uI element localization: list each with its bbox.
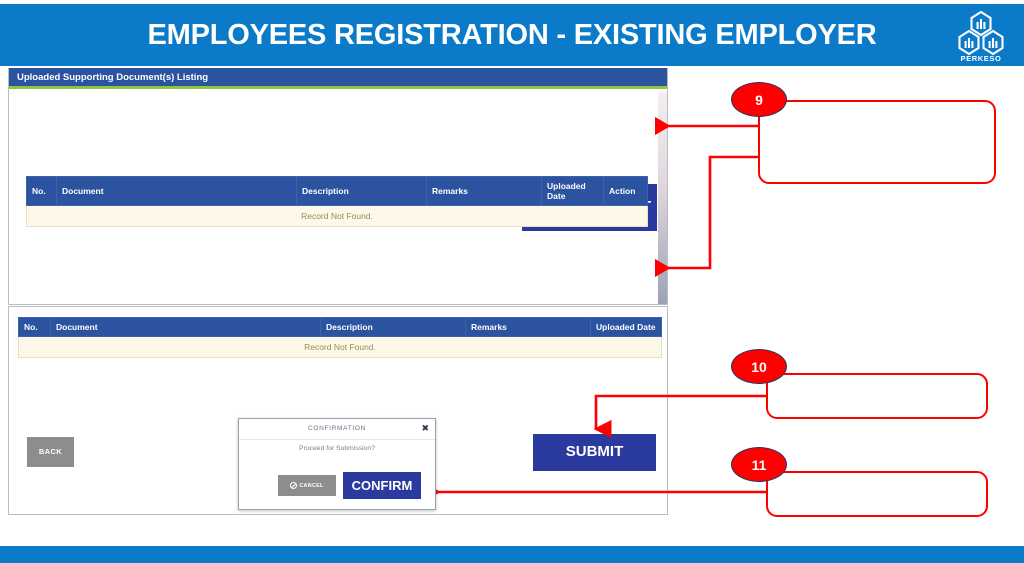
column-header-document: Document: [51, 318, 321, 337]
column-header-remarks: Remarks: [466, 318, 591, 337]
vertical-scrollbar[interactable]: [658, 92, 667, 304]
empty-state-message: Record Not Found.: [19, 337, 662, 358]
submission-documents-table: No. Document Description Remarks Uploade…: [18, 317, 662, 358]
back-button-lower[interactable]: BACK: [27, 437, 74, 467]
table-header-row: No. Document Description Remarks Uploade…: [19, 318, 662, 337]
column-header-description: Description: [297, 177, 427, 206]
column-header-no: No.: [27, 177, 57, 206]
column-header-remarks: Remarks: [427, 177, 542, 206]
column-header-document: Document: [57, 177, 297, 206]
dialog-header: CONFIRMATION ✖: [239, 419, 435, 440]
confirmation-dialog: CONFIRMATION ✖ Proceed for Submission? C…: [238, 418, 436, 510]
empty-state-message: Record Not Found.: [27, 206, 648, 227]
submit-button[interactable]: SUBMIT: [533, 434, 656, 471]
table-row: Record Not Found.: [19, 337, 662, 358]
slide-header: EMPLOYEES REGISTRATION - EXISTING EMPLOY…: [0, 4, 1024, 66]
table-header-row: No. Document Description Remarks Uploade…: [27, 177, 648, 206]
close-icon[interactable]: ✖: [421, 423, 429, 434]
cancel-button-label: CANCEL: [299, 483, 323, 489]
uploaded-documents-table: No. Document Description Remarks Uploade…: [26, 176, 648, 227]
confirm-button[interactable]: CONFIRM: [343, 472, 421, 499]
ban-icon: [290, 482, 297, 489]
callout-badge-10: 10: [731, 349, 787, 384]
column-header-uploaded-date: Uploaded Date: [591, 318, 662, 337]
dialog-title: CONFIRMATION: [239, 419, 435, 439]
connector-save-continue: [655, 157, 758, 268]
callout-box-11: [766, 471, 988, 517]
column-header-description: Description: [321, 318, 466, 337]
panel-title-uploaded-documents: Uploaded Supporting Document(s) Listing: [9, 68, 667, 89]
dialog-message: Proceed for Submission?: [239, 445, 435, 452]
cancel-button[interactable]: CANCEL: [278, 475, 336, 496]
slide-footer-bar: [0, 546, 1024, 563]
callout-badge-9: 9: [731, 82, 787, 117]
column-header-action: Action: [604, 177, 648, 206]
table-row: Record Not Found.: [27, 206, 648, 227]
column-header-uploaded-date: Uploaded Date: [542, 177, 604, 206]
page-title: EMPLOYEES REGISTRATION - EXISTING EMPLOY…: [0, 4, 1024, 66]
upper-screenshot-panel: Uploaded Supporting Document(s) Listing …: [8, 68, 668, 305]
column-header-no: No.: [19, 318, 51, 337]
callout-box-9: [758, 100, 996, 184]
perkeso-logo-wordmark: PERKESO: [952, 54, 1010, 63]
callout-badge-11: 11: [731, 447, 787, 482]
callout-box-10: [766, 373, 988, 419]
